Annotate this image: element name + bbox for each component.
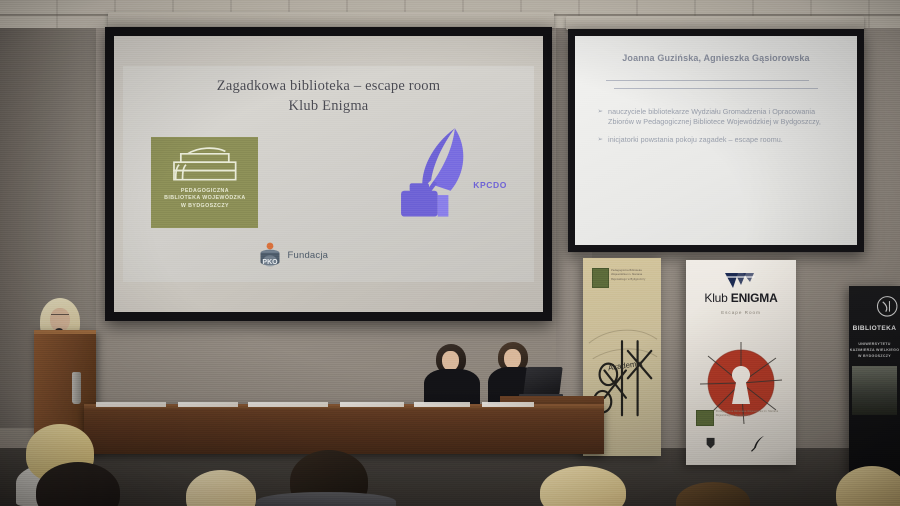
fundacja-label: Fundacja — [287, 250, 328, 261]
papers-on-table — [96, 402, 166, 407]
presenter-left-face — [442, 351, 459, 371]
pko-cylinder-icon: PKO — [258, 242, 282, 270]
stage-front-table — [84, 404, 604, 454]
papers-on-table — [178, 402, 238, 407]
pko-fundacja-logo: PKO Fundacja — [258, 239, 398, 273]
divider-line-1 — [606, 80, 809, 81]
library-line-3: W BYDGOSZCZY — [151, 203, 258, 211]
projection-screen-right: Joanna Guzińska, Agnieszka Gąsiorowska ➢… — [568, 29, 864, 252]
ukw-subtitle: UNIWERSYTETU KAZIMIERZA WIELKIEGO W BYDG… — [849, 341, 900, 359]
screen-surface-left: Zagadkowa biblioteka – escape room Klub … — [114, 36, 543, 312]
projector-screen-housing-left — [108, 12, 554, 28]
banner-klub-enigma: Klub ENIGMA Escape Room Pedagogiczna Bib… — [686, 260, 796, 465]
audience-shoulders — [256, 492, 396, 506]
bullet-arrow-icon: ➢ — [598, 135, 604, 145]
crest-icon — [704, 436, 717, 450]
laptop — [519, 367, 561, 399]
bullet-item: ➢ nauczyciele bibliotekarze Wydziału Gro… — [598, 107, 841, 128]
screen-surface-right: Joanna Guzińska, Agnieszka Gąsiorowska ➢… — [575, 36, 857, 245]
ukw-seal-icon — [876, 294, 898, 319]
pedagogiczna-biblioteka-logo: PEDAGOGICZNA BIBLIOTEKA WOJEWÓDZKA W BYD… — [151, 137, 258, 227]
presenter-right-face — [504, 349, 521, 369]
bullet-text: nauczyciele bibliotekarze Wydziału Groma… — [608, 107, 840, 128]
papers-on-table — [340, 402, 404, 407]
speaker-glasses-icon — [51, 314, 69, 320]
banner-ukw-biblioteka: BIBLIOTEKA UNIWERSYTETU KAZIMIERZA WIELK… — [849, 286, 900, 476]
presentation-room-photo: Zagadkowa biblioteka – escape room Klub … — [0, 0, 900, 506]
enigma-title-bold: ENIGMA — [731, 291, 778, 305]
library-mini-logo-icon — [592, 268, 610, 288]
papers-on-table — [248, 402, 328, 407]
title-slide: Zagadkowa biblioteka – escape room Klub … — [123, 66, 535, 281]
enigma-chevron-mark-icon — [724, 272, 758, 290]
enigma-title-thin: Klub — [704, 291, 730, 305]
water-bottle — [72, 372, 81, 404]
projector-screen-housing-right — [566, 16, 864, 30]
library-line-2: BIBLIOTEKA WOJEWÓDZKA — [151, 195, 258, 203]
bullet-arrow-icon: ➢ — [598, 107, 604, 128]
quill-inkwell-icon — [374, 124, 510, 221]
bullet-list: ➢ nauczyciele bibliotekarze Wydziału Gro… — [598, 107, 841, 152]
slide-title-line2: Klub Enigma — [123, 97, 535, 117]
presenter-left — [424, 344, 482, 404]
kpcdo-logo: KPCDO — [374, 124, 510, 221]
svg-text:PKO: PKO — [263, 259, 279, 266]
enigma-subtitle: Escape Room — [686, 310, 796, 315]
laptop-screen — [523, 367, 562, 395]
library-mini-logo-icon — [696, 410, 715, 426]
feather-quill-icon — [750, 434, 768, 452]
enigma-title: Klub ENIGMA — [686, 291, 796, 305]
bullet-text: inicjatorki powstania pokoju zagadek – e… — [608, 135, 783, 145]
papers-on-table — [414, 402, 470, 407]
papers-on-table — [482, 402, 534, 407]
divider-line-2 — [614, 88, 817, 89]
kpcdo-label: KPCDO — [473, 180, 507, 190]
slide-title-line1: Zagadkowa biblioteka – escape room — [123, 77, 535, 97]
ukw-sub-3: W BYDGOSZCZY — [849, 353, 900, 359]
stacked-books-icon — [162, 143, 248, 186]
ukw-title: BIBLIOTEKA — [849, 324, 900, 334]
ukw-building-photo — [852, 366, 897, 415]
presenters-names: Joanna Guzińska, Agnieszka Gąsiorowska — [598, 53, 835, 63]
bullet-item: ➢ inicjatorki powstania pokoju zagadek –… — [598, 135, 841, 145]
akademia-fineprint: Pedagogiczna Biblioteka Wojewódzka im. M… — [611, 269, 658, 282]
slide-title: Zagadkowa biblioteka – escape room Klub … — [123, 77, 535, 116]
library-logo-text: PEDAGOGICZNA BIBLIOTEKA WOJEWÓDZKA W BYD… — [151, 188, 258, 212]
projection-screen-left: Zagadkowa biblioteka – escape room Klub … — [105, 27, 552, 321]
enigma-fineprint: Pedagogiczna Biblioteka Wojewódzka im. M… — [716, 410, 789, 419]
